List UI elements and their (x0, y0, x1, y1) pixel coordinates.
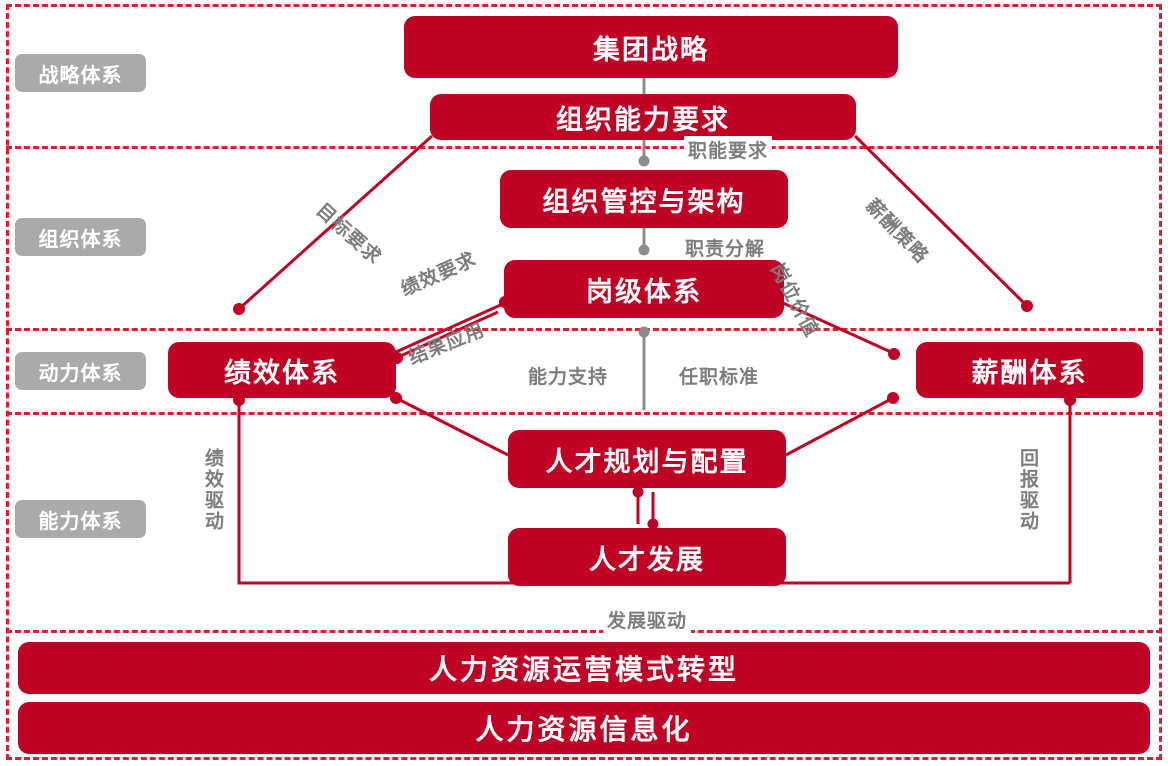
caption-development-drive: 发展驱动 (603, 606, 691, 633)
box-compensation-system[interactable]: 薪酬体系 (916, 342, 1143, 398)
caption-capability-support: 能力支持 (528, 362, 608, 389)
caption-performance-drive: 绩效驱动 (199, 448, 226, 532)
box-performance-system[interactable]: 绩效体系 (168, 342, 396, 398)
box-org-control-structure[interactable]: 组织管控与架构 (500, 170, 788, 228)
box-talent-development[interactable]: 人才发展 (508, 528, 786, 586)
caption-functional-requirement: 职能要求 (684, 136, 772, 163)
box-hr-informatization[interactable]: 人力资源信息化 (18, 702, 1150, 754)
box-talent-planning[interactable]: 人才规划与配置 (508, 430, 786, 488)
box-org-capability-requirement[interactable]: 组织能力要求 (430, 94, 856, 140)
caption-qualification-standard: 任职标准 (679, 362, 759, 389)
caption-return-drive: 回报驱动 (1014, 448, 1041, 532)
box-job-grade-system[interactable]: 岗级体系 (504, 260, 784, 318)
caption-duty-decomposition: 职责分解 (685, 234, 765, 261)
hr-system-framework-diagram: 战略体系 组织体系 动力体系 能力体系 集团战略 组织能力要求 组织管控与架构 … (0, 0, 1168, 766)
box-group-strategy[interactable]: 集团战略 (404, 16, 898, 78)
box-hr-operating-model[interactable]: 人力资源运营模式转型 (18, 642, 1150, 694)
